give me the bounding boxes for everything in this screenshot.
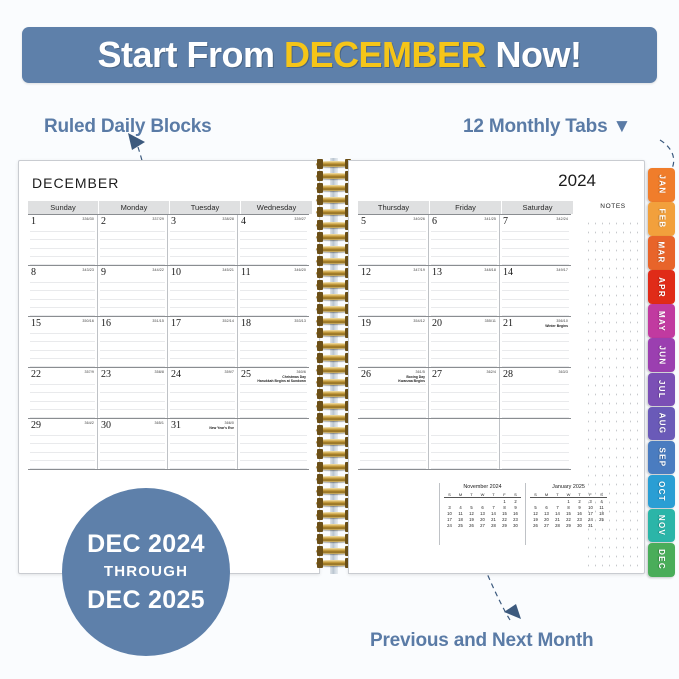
rule-line (502, 341, 569, 342)
rule-line (431, 443, 497, 444)
calendar-day-cell-empty[interactable] (238, 419, 309, 469)
badge-line-start: DEC 2024 (87, 530, 205, 558)
day-of-year-counter: 340/26 (413, 217, 425, 221)
rule-line (170, 350, 235, 351)
holiday-line: New Year's Eve (209, 426, 234, 430)
rule-line (431, 409, 497, 410)
calendar-day-cell-30[interactable]: 30365/1 (98, 419, 168, 469)
calendar-day-cell-16[interactable]: 16351/15 (98, 317, 168, 367)
rule-line (170, 409, 235, 410)
rule-line (431, 231, 497, 232)
rule-line (431, 290, 497, 291)
day-of-year-counter: 345/21 (222, 268, 234, 272)
spiral-coil (316, 377, 352, 388)
spiral-coil (316, 558, 352, 569)
month-tab-jun[interactable]: JUN (648, 338, 675, 372)
holiday-label: Christmas DayHanukkah Begins at Sundown (257, 375, 306, 384)
month-tab-label: AUG (657, 413, 666, 435)
rule-line (240, 409, 307, 410)
rule-line (431, 333, 497, 334)
rule-line (431, 307, 497, 308)
day-of-year-counter: 366/0 (225, 421, 235, 425)
rule-line (30, 256, 95, 257)
spiral-coil (316, 353, 352, 364)
day-number: 31 (171, 420, 181, 431)
day-name-friday: Friday (430, 201, 502, 214)
rule-line (100, 282, 165, 283)
rule-line (100, 239, 165, 240)
rule-line (170, 256, 235, 257)
rule-line (360, 299, 426, 300)
rule-line (360, 409, 426, 410)
day-name-header-left: SundayMondayTuesdayWednesday (28, 201, 313, 214)
rule-line (30, 358, 95, 359)
day-of-year-counter: 336/30 (82, 217, 94, 221)
mini-calendar-day-empty (596, 522, 607, 528)
rule-line (100, 290, 165, 291)
rule-line (170, 341, 235, 342)
rule-line (431, 256, 497, 257)
day-number: 5 (361, 216, 366, 227)
rule-line (240, 333, 307, 334)
calendar-day-cell-28[interactable]: 28363/3 (500, 368, 571, 418)
calendar-day-cell-22[interactable]: 22357/9 (28, 368, 98, 418)
rule-line (502, 358, 569, 359)
rule-line (431, 239, 497, 240)
rule-line (170, 384, 235, 385)
month-tab-label: SEP (657, 448, 666, 468)
calendar-week-row: 15350/1616351/1517352/1418353/13 (28, 317, 309, 368)
promo-suffix: Now! (486, 34, 581, 75)
day-name-wednesday: Wednesday (241, 201, 313, 214)
spiral-coil (316, 425, 352, 436)
day-of-year-counter: 347/19 (413, 268, 425, 272)
calendar-day-cell-19[interactable]: 19354/12 (358, 317, 429, 367)
ruled-lines (429, 419, 499, 469)
callout-previous-next-month: Previous and Next Month (370, 630, 593, 652)
rule-line (30, 264, 95, 265)
calendar-day-cell-4[interactable]: 4339/27 (238, 215, 309, 265)
rule-line (240, 248, 307, 249)
rule-line (30, 401, 95, 402)
month-tab-strip[interactable]: JANFEBMARAPRMAYJUNJULAUGSEPOCTNOVDEC (648, 168, 675, 577)
rule-line (360, 417, 426, 418)
month-tab-oct[interactable]: OCT (648, 475, 675, 509)
day-of-year-counter: 339/27 (294, 217, 306, 221)
mini-calendar-day: 27 (541, 522, 552, 528)
page-title-year: 2024 (558, 171, 596, 191)
day-of-year-counter: 355/11 (485, 319, 496, 323)
rule-line (360, 401, 426, 402)
rule-line (240, 290, 307, 291)
mini-calendar-day: 26 (466, 522, 477, 528)
month-tab-aug[interactable]: AUG (648, 407, 675, 441)
rule-line (30, 409, 95, 410)
rule-line (100, 452, 165, 453)
rule-line (170, 282, 235, 283)
ruled-lines (98, 215, 167, 265)
spiral-coil (316, 341, 352, 352)
day-number: 29 (31, 420, 41, 431)
month-tab-feb[interactable]: FEB (648, 202, 675, 236)
rule-line (100, 307, 165, 308)
rule-line (502, 264, 569, 265)
spiral-coil (316, 413, 352, 424)
rule-line (240, 452, 307, 453)
rule-line (502, 307, 569, 308)
rule-line (170, 333, 235, 334)
day-of-year-counter: 353/13 (294, 319, 306, 323)
mini-calendar-day: 28 (552, 522, 563, 528)
rule-line (360, 282, 426, 283)
planner-product-image: Start From DECEMBER Now! Ruled Daily Blo… (0, 0, 679, 679)
calendar-day-cell-13[interactable]: 13348/18 (429, 266, 500, 316)
calendar-day-cell-15[interactable]: 15350/16 (28, 317, 98, 367)
rule-line (240, 315, 307, 316)
day-of-year-counter: 356/10 (556, 319, 568, 323)
rule-line (170, 468, 235, 469)
rule-line (100, 460, 165, 461)
rule-line (502, 452, 569, 453)
rule-line (502, 256, 569, 257)
rule-line (100, 358, 165, 359)
calendar-day-cell-10[interactable]: 10345/21 (168, 266, 238, 316)
rule-line (30, 460, 95, 461)
calendar-day-cell-31[interactable]: 31366/0New Year's Eve (168, 419, 238, 469)
rule-line (30, 452, 95, 453)
rule-line (431, 452, 497, 453)
rule-line (240, 231, 307, 232)
day-name-tuesday: Tuesday (170, 201, 241, 214)
day-of-year-counter: 354/12 (413, 319, 425, 323)
day-number: 24 (171, 369, 181, 380)
day-number: 3 (171, 216, 176, 227)
calendar-day-cell-8[interactable]: 8343/23 (28, 266, 98, 316)
ruled-lines (238, 215, 309, 265)
rule-line (170, 239, 235, 240)
rule-line (170, 264, 235, 265)
day-of-year-counter: 351/15 (152, 319, 164, 323)
rule-line (431, 248, 497, 249)
rule-line (360, 350, 426, 351)
calendar-day-cell-29[interactable]: 29364/2 (28, 419, 98, 469)
holiday-line: Winter Begins (545, 324, 568, 328)
rule-line (502, 248, 569, 249)
mini-calendar-row: 262728293031 (530, 522, 607, 528)
calendar-day-cell-empty[interactable] (500, 419, 571, 469)
rule-line (502, 366, 569, 367)
rule-line (170, 460, 235, 461)
spiral-coil (316, 220, 352, 231)
rule-line (502, 443, 569, 444)
rule-line (100, 231, 165, 232)
rule-line (240, 358, 307, 359)
mini-calendar-table: SMTWTFS123456789101112131415161718192021… (530, 491, 607, 528)
calendar-day-cell-11[interactable]: 11346/20 (238, 266, 309, 316)
day-of-year-counter: 349/17 (556, 268, 568, 272)
rule-line (100, 417, 165, 418)
month-tab-jul[interactable]: JUL (648, 373, 675, 407)
rule-line (100, 468, 165, 469)
spiral-coil (316, 437, 352, 448)
rule-line (502, 350, 569, 351)
spiral-coil (316, 183, 352, 194)
rule-line (502, 435, 569, 436)
calendar-day-cell-20[interactable]: 20355/11 (429, 317, 500, 367)
rule-line (360, 392, 426, 393)
promo-banner: Start From DECEMBER Now! (22, 27, 657, 83)
spiral-coil (316, 522, 352, 533)
ruled-lines (28, 215, 97, 265)
rule-line (360, 307, 426, 308)
rule-line (170, 392, 235, 393)
day-number: 11 (241, 267, 251, 278)
rule-line (431, 417, 497, 418)
spiral-coil (316, 256, 352, 267)
calendar-day-cell-21[interactable]: 21356/10Winter Begins (500, 317, 571, 367)
rule-line (100, 401, 165, 402)
day-number: 27 (432, 369, 442, 380)
spiral-coil (316, 207, 352, 218)
rule-line (170, 231, 235, 232)
calendar-day-cell-6[interactable]: 6341/25 (429, 215, 500, 265)
mini-calendar-day: 27 (477, 522, 488, 528)
spiral-coil (316, 486, 352, 497)
day-of-year-counter: 360/6 (297, 370, 307, 374)
rule-line (360, 290, 426, 291)
mini-calendar-table: SMTWTFS123456789101112131415161718192021… (444, 491, 521, 528)
rule-line (100, 264, 165, 265)
month-tab-mar[interactable]: MAR (648, 236, 675, 270)
rule-line (30, 443, 95, 444)
rule-line (100, 333, 165, 334)
rule-line (30, 307, 95, 308)
holiday-label: New Year's Eve (209, 426, 234, 430)
day-of-year-counter: 338/28 (222, 217, 234, 221)
rule-line (431, 366, 497, 367)
badge-line-end: DEC 2025 (87, 586, 205, 614)
badge-line-through: THROUGH (104, 558, 188, 587)
ruled-lines (429, 215, 499, 265)
calendar-day-cell-26[interactable]: 26361/5Boxing DayKwanzaa Begins (358, 368, 429, 418)
spiral-coil (316, 510, 352, 521)
spiral-coil (316, 292, 352, 303)
spiral-coil (316, 171, 352, 182)
day-number: 30 (101, 420, 111, 431)
calendar-day-cell-17[interactable]: 17352/14 (168, 317, 238, 367)
spiral-coil (316, 365, 352, 376)
calendar-week-row: 26361/5Boxing DayKwanzaa Begins27362/428… (358, 368, 571, 419)
month-tab-label: APR (657, 277, 666, 298)
spiral-coil (316, 244, 352, 255)
calendar-day-cell-5[interactable]: 5340/26 (358, 215, 429, 265)
month-tab-dec[interactable]: DEC (648, 543, 675, 577)
spiral-coil (316, 195, 352, 206)
calendar-day-cell-23[interactable]: 23358/8 (98, 368, 168, 418)
rule-line (431, 315, 497, 316)
mini-calendar-day: 24 (444, 522, 455, 528)
mini-calendar-day: 25 (455, 522, 466, 528)
rule-line (170, 315, 235, 316)
mini-calendar-title: November 2024 (444, 484, 521, 490)
rule-line (431, 435, 497, 436)
month-tab-sep[interactable]: SEP (648, 441, 675, 475)
day-of-year-counter: 359/7 (225, 370, 235, 374)
rule-line (502, 417, 569, 418)
rule-line (30, 435, 95, 436)
arrow-previous-next-month (504, 604, 521, 619)
rule-line (502, 409, 569, 410)
rule-line (502, 290, 569, 291)
month-tab-may[interactable]: MAY (648, 304, 675, 338)
day-number: 19 (361, 318, 371, 329)
ruled-lines (500, 215, 571, 265)
rule-line (30, 290, 95, 291)
month-tab-label: MAR (657, 242, 666, 264)
day-name-sunday: Sunday (28, 201, 99, 214)
calendar-week-row: 22357/923358/824359/725360/6Christmas Da… (28, 368, 309, 419)
calendar-day-cell-9[interactable]: 9344/22 (98, 266, 168, 316)
rule-line (360, 256, 426, 257)
mini-calendar-next-month: January 2025SMTWTFS123456789101112131415… (525, 483, 611, 545)
mini-calendar-previous-month: November 2024SMTWTFS12345678910111213141… (439, 483, 525, 545)
rule-line (431, 350, 497, 351)
calendar-grid-right: 5340/266341/257342/2412347/1913348/18143… (358, 214, 571, 470)
calendar-day-cell-7[interactable]: 7342/24 (500, 215, 571, 265)
month-tab-label: MAY (657, 311, 666, 332)
rule-line (502, 333, 569, 334)
rule-line (170, 307, 235, 308)
mini-calendar-day: 30 (574, 522, 585, 528)
day-name-header-right: ThursdayFridaySaturday (358, 201, 574, 214)
rule-line (100, 350, 165, 351)
month-tab-jan[interactable]: JAN (648, 168, 675, 202)
rule-line (100, 435, 165, 436)
promo-prefix: Start From (97, 34, 284, 75)
planner-right-page: 2024 ThursdayFridaySaturday 5340/266341/… (348, 160, 645, 574)
rule-line (502, 239, 569, 240)
day-number: 23 (101, 369, 111, 380)
day-of-year-counter: 363/3 (559, 370, 569, 374)
spiral-coil (316, 498, 352, 509)
month-tab-label: NOV (657, 515, 666, 536)
calendar-grid-left: 1336/302337/293338/284339/278343/239344/… (28, 214, 309, 470)
day-of-year-counter: 361/5 (416, 370, 426, 374)
rule-line (502, 460, 569, 461)
rule-line (100, 392, 165, 393)
month-tab-nov[interactable]: NOV (648, 509, 675, 543)
spiral-coil (316, 280, 352, 291)
calendar-day-cell-2[interactable]: 2337/29 (98, 215, 168, 265)
rule-line (240, 435, 307, 436)
holiday-label: Boxing DayKwanzaa Begins (398, 375, 425, 384)
rule-line (431, 341, 497, 342)
rule-line (170, 248, 235, 249)
rule-line (30, 341, 95, 342)
month-tab-label: JAN (657, 175, 666, 195)
rule-line (360, 239, 426, 240)
day-number: 12 (361, 267, 371, 278)
day-of-year-counter: 357/9 (85, 370, 95, 374)
date-range-badge: DEC 2024 THROUGH DEC 2025 (62, 488, 230, 656)
spiral-coil (316, 304, 352, 315)
spiral-coil (316, 159, 352, 170)
day-number: 16 (101, 318, 111, 329)
calendar-day-cell-empty[interactable] (358, 419, 429, 469)
spiral-coil (316, 268, 352, 279)
rule-line (170, 435, 235, 436)
rule-line (431, 264, 497, 265)
day-of-year-counter: 346/20 (294, 268, 306, 272)
rule-line (240, 468, 307, 469)
rule-line (502, 315, 569, 316)
calendar-day-cell-27[interactable]: 27362/4 (429, 368, 500, 418)
rule-line (502, 401, 569, 402)
day-number: 22 (31, 369, 41, 380)
day-of-year-counter: 342/24 (556, 217, 568, 221)
calendar-day-cell-14[interactable]: 14349/17 (500, 266, 571, 316)
rule-line (431, 384, 497, 385)
rule-line (100, 384, 165, 385)
rule-line (100, 409, 165, 410)
mini-calendar-day: 29 (563, 522, 574, 528)
rule-line (360, 248, 426, 249)
rule-line (360, 315, 426, 316)
rule-line (240, 239, 307, 240)
rule-line (431, 392, 497, 393)
rule-line (240, 256, 307, 257)
rule-line (240, 307, 307, 308)
rule-line (100, 443, 165, 444)
rule-line (170, 358, 235, 359)
day-name-monday: Monday (99, 201, 170, 214)
spiral-coil (316, 534, 352, 545)
calendar-day-cell-3[interactable]: 3338/28 (168, 215, 238, 265)
spiral-coil (316, 462, 352, 473)
rule-line (170, 366, 235, 367)
month-tab-apr[interactable]: APR (648, 270, 675, 304)
rule-line (240, 341, 307, 342)
calendar-day-cell-18[interactable]: 18353/13 (238, 317, 309, 367)
calendar-day-cell-12[interactable]: 12347/19 (358, 266, 429, 316)
day-number: 9 (101, 267, 106, 278)
rule-line (30, 333, 95, 334)
spiral-coil (316, 401, 352, 412)
calendar-day-cell-24[interactable]: 24359/7 (168, 368, 238, 418)
rule-line (30, 384, 95, 385)
calendar-day-cell-empty[interactable] (429, 419, 500, 469)
rule-line (240, 392, 307, 393)
rule-line (170, 401, 235, 402)
mini-calendars: November 2024SMTWTFS12345678910111213141… (439, 483, 611, 545)
calendar-day-cell-1[interactable]: 1336/30 (28, 215, 98, 265)
day-of-year-counter: 337/29 (152, 217, 164, 221)
calendar-week-row: 12347/1913348/1814349/17 (358, 266, 571, 317)
rule-line (170, 443, 235, 444)
month-tab-label: DEC (657, 549, 666, 570)
rule-line (431, 401, 497, 402)
calendar-day-cell-25[interactable]: 25360/6Christmas DayHanukkah Begins at S… (238, 368, 309, 418)
calendar-week-row: 29364/230365/131366/0New Year's Eve (28, 419, 309, 470)
ruled-lines (238, 419, 309, 469)
day-number: 4 (241, 216, 246, 227)
rule-line (30, 350, 95, 351)
rule-line (431, 468, 497, 469)
day-number: 18 (241, 318, 251, 329)
ruled-lines (500, 419, 571, 469)
rule-line (30, 231, 95, 232)
mini-calendar-day: 31 (585, 522, 596, 528)
